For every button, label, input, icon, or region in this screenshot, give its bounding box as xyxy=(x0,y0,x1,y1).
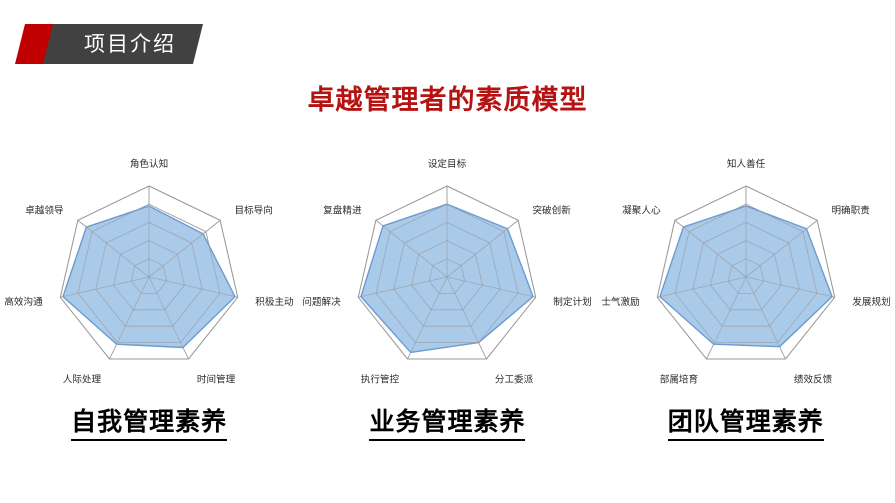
radar-axis-label: 卓越领导 xyxy=(25,205,64,217)
radar-axis-label: 绩效反馈 xyxy=(793,373,832,385)
radar-axis-label: 执行管控 xyxy=(361,373,400,385)
radar-axis-label: 知人善任 xyxy=(726,158,765,170)
radar-svg-1: 设定目标突破创新制定计划分工委派执行管控问题解决复盘精进 xyxy=(298,146,596,396)
radar-axis-label: 部属培育 xyxy=(659,373,698,385)
caption-label: 自我管理素养 xyxy=(71,402,227,441)
caption-cell-self-management: 自我管理素养 xyxy=(0,402,298,448)
radar-axis-label: 角色认知 xyxy=(130,158,168,170)
radar-axis-label: 凝聚人心 xyxy=(622,206,661,217)
radar-axis-label: 设定目标 xyxy=(428,158,467,170)
radar-axis-label: 士气激励 xyxy=(601,296,639,308)
radar-axis-label: 制定计划 xyxy=(554,296,592,308)
radar-charts-row: 角色认知目标导向积极主动时间管理人际处理高效沟通卓越领导 设定目标突破创新制定计… xyxy=(0,146,895,396)
caption-cell-business-management: 业务管理素养 xyxy=(298,402,596,448)
radar-axis-label: 目标导向 xyxy=(234,205,272,217)
radar-axis-label: 发展规划 xyxy=(852,296,890,308)
page-title: 卓越管理者的素质模型 xyxy=(0,78,895,117)
radar-axis-label: 复盘精进 xyxy=(323,205,362,217)
caption-cell-team-management: 团队管理素养 xyxy=(597,402,895,448)
radar-axis-label: 问题解决 xyxy=(303,296,342,308)
banner-label: 项目介绍 xyxy=(60,24,200,64)
radar-axis-label: 时间管理 xyxy=(197,373,236,385)
radar-chart-self-management: 角色认知目标导向积极主动时间管理人际处理高效沟通卓越领导 xyxy=(0,146,298,396)
caption-label: 团队管理素养 xyxy=(668,402,824,441)
radar-axis-label: 突破创新 xyxy=(533,205,572,217)
caption-label: 业务管理素养 xyxy=(369,402,525,441)
radar-axis-label: 积极主动 xyxy=(255,296,294,308)
radar-axis-label: 分工委派 xyxy=(495,373,534,385)
radar-chart-team-management: 知人善任明确职责发展规划绩效反馈部属培育士气激励凝聚人心 xyxy=(597,146,895,396)
radar-axis-label: 高效沟通 xyxy=(4,296,43,308)
radar-svg-0: 角色认知目标导向积极主动时间管理人际处理高效沟通卓越领导 xyxy=(0,146,298,396)
captions-row: 自我管理素养 业务管理素养 团队管理素养 xyxy=(0,402,895,448)
radar-svg-2: 知人善任明确职责发展规划绩效反馈部属培育士气激励凝聚人心 xyxy=(597,146,895,396)
radar-axis-label: 人际处理 xyxy=(63,373,102,385)
radar-chart-business-management: 设定目标突破创新制定计划分工委派执行管控问题解决复盘精进 xyxy=(298,146,596,396)
radar-axis-label: 明确职责 xyxy=(831,205,870,217)
